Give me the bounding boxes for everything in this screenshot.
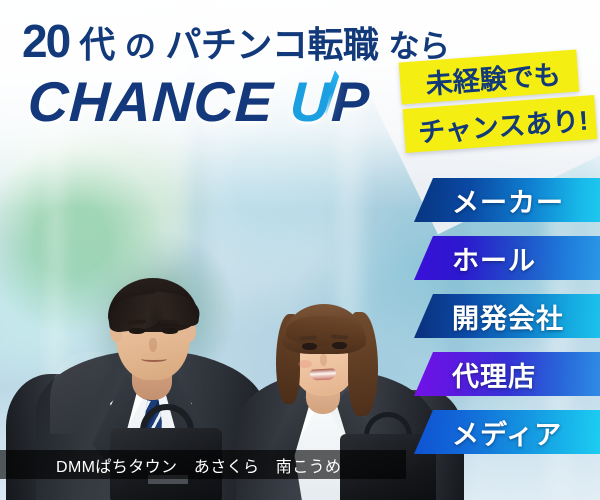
category-button-hall[interactable]: ホール [414, 236, 600, 280]
man-mouth [141, 356, 167, 362]
category-button-developer[interactable]: 開発会社 [414, 294, 600, 338]
promo-banner[interactable]: 20 代 の パチンコ転職 なら CHANCE UP 未経験でも チャンスあり!… [0, 0, 600, 500]
man-shoulder-highlight [50, 352, 112, 434]
man-eye-left [129, 328, 145, 334]
category-label: 開発会社 [414, 297, 564, 336]
logo-word-chance: CHANCE [26, 70, 275, 133]
woman-hair-bangs [286, 316, 362, 346]
people-photo-group [0, 150, 430, 500]
woman-nose [320, 354, 327, 366]
badge-line-1: 未経験でも [399, 50, 580, 105]
man-eye-right [162, 328, 178, 334]
category-label: ホール [414, 239, 536, 278]
experience-badge: 未経験でも チャンスあり! [400, 56, 596, 156]
headline-age-number: 20 [22, 15, 69, 67]
woman-cheek-blush [298, 360, 312, 368]
credit-text: DMMぱちタウン あさくら 南こうめ [0, 453, 341, 477]
headline-age-suffix: 代 [79, 24, 115, 65]
badge-line-2: チャンスあり! [403, 95, 598, 153]
woman-eye-right [332, 342, 347, 349]
category-button-maker[interactable]: メーカー [414, 178, 600, 222]
category-label: メーカー [414, 181, 564, 220]
headline-particle-no: の [125, 29, 156, 64]
woman-eye-left [302, 343, 317, 350]
headline-keyword: パチンコ転職 [165, 24, 378, 65]
category-label: 代理店 [414, 355, 536, 394]
category-button-list[interactable]: メーカー ホール 開発会社 代理店 メディア [414, 178, 600, 454]
category-button-media[interactable]: メディア [414, 410, 600, 454]
category-label: メディア [414, 413, 562, 452]
chance-up-logo: CHANCE UP [27, 74, 372, 130]
man-nose [149, 338, 157, 352]
category-button-agency[interactable]: 代理店 [414, 352, 600, 396]
logo-letter-u: U [289, 74, 333, 130]
credit-bar: DMMぱちタウン あさくら 南こうめ [0, 450, 406, 479]
headline: 20 代 の パチンコ転職 なら [22, 18, 449, 64]
